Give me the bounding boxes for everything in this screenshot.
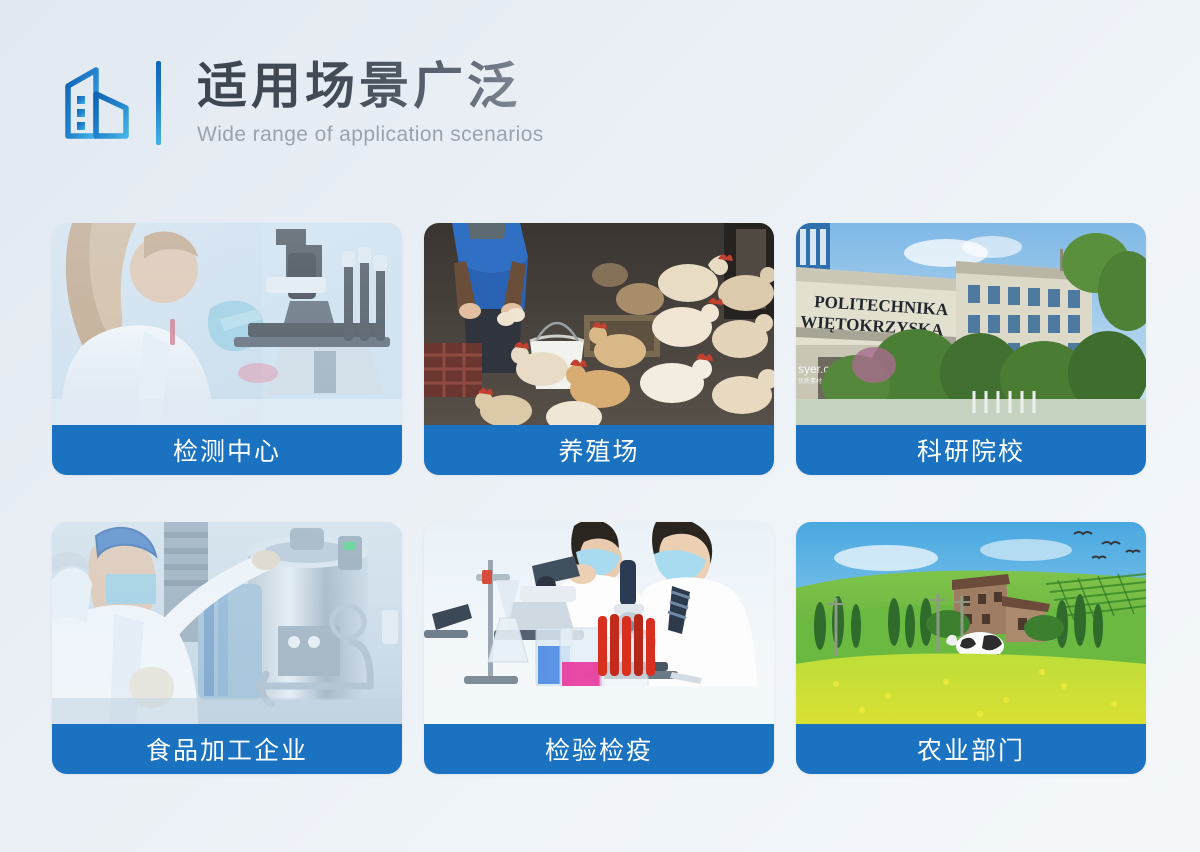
card-label-research-institute: 科研院校 <box>796 425 1146 475</box>
card-label-text: 养殖场 <box>558 432 639 468</box>
scenario-card-breeding-farm[interactable]: 养殖场 <box>424 223 774 475</box>
page-subtitle: Wide range of application scenarios <box>197 123 544 147</box>
card-label-agriculture-department: 农业部门 <box>796 724 1146 774</box>
photo-inspection-lab <box>424 522 774 724</box>
card-label-breeding-farm: 养殖场 <box>424 425 774 475</box>
scenario-card-grid: 检测中心 <box>52 223 1146 774</box>
building-icon <box>62 64 134 142</box>
scenario-card-research-institute[interactable]: POLITECHNIKA WIĘTOKRZYSKA syer.com 优质素材尽… <box>796 223 1146 475</box>
header-divider <box>156 61 161 145</box>
header-titles: 适用场景广泛 Wide range of application scenari… <box>197 58 544 147</box>
photo-poultry-farm <box>424 223 774 425</box>
scenario-card-agriculture-department[interactable]: 农业部门 <box>796 522 1146 774</box>
page-header: 适用场景广泛 Wide range of application scenari… <box>62 58 544 147</box>
card-label-text: 检测中心 <box>173 432 281 468</box>
card-label-inspection-quarantine: 检验检疫 <box>424 724 774 774</box>
photo-food-processing-plant <box>52 522 402 724</box>
card-label-text: 农业部门 <box>917 731 1025 767</box>
card-label-testing-center: 检测中心 <box>52 425 402 475</box>
card-label-food-processing: 食品加工企业 <box>52 724 402 774</box>
photo-lab-microscope <box>52 223 402 425</box>
card-label-text: 检验检疫 <box>545 731 653 767</box>
page-title: 适用场景广泛 <box>197 58 544 114</box>
card-label-text: 科研院校 <box>917 432 1025 468</box>
card-label-text: 食品加工企业 <box>146 731 308 767</box>
photo-farmland-landscape <box>796 522 1146 724</box>
scenario-card-testing-center[interactable]: 检测中心 <box>52 223 402 475</box>
scenario-card-food-processing[interactable]: 食品加工企业 <box>52 522 402 774</box>
photo-university-building: POLITECHNIKA WIĘTOKRZYSKA syer.com 优质素材尽… <box>796 223 1146 425</box>
scenario-card-inspection-quarantine[interactable]: 检验检疫 <box>424 522 774 774</box>
